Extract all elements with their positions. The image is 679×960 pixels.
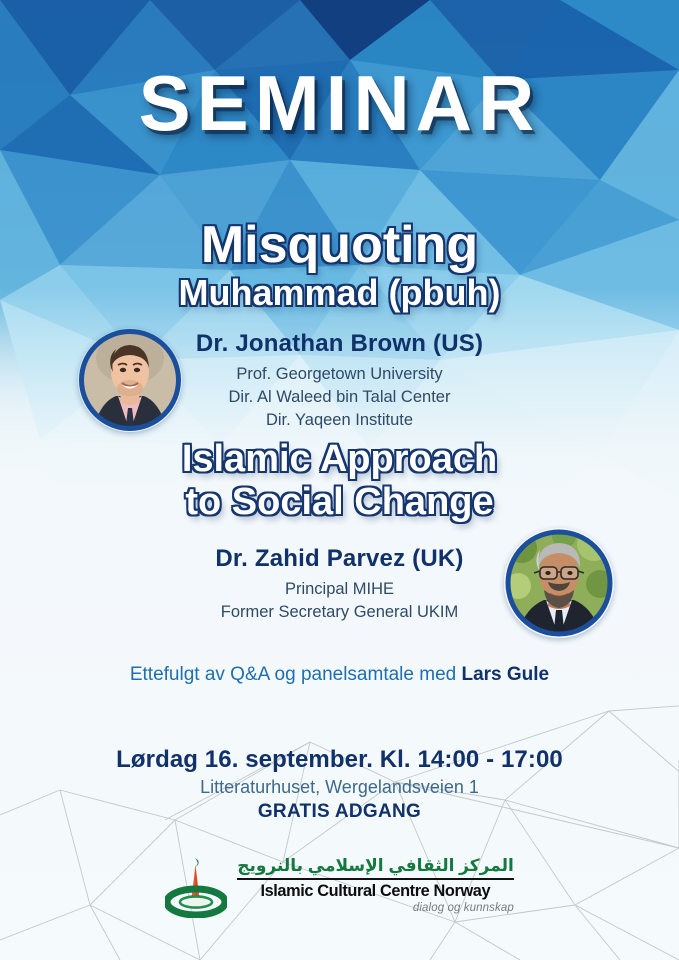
talk-one-speaker-name: Dr. Jonathan Brown (US) [0,330,679,358]
poster-heading-container: SEMINAR [0,64,679,142]
minaret-swoosh-icon [165,852,227,923]
talk-one-credentials: Prof. Georgetown University Dir. Al Wale… [0,363,679,431]
talk-one-speaker-block: Dr. Jonathan Brown (US) Prof. Georgetown… [0,330,679,431]
talk-one-title-line2: Muhammad (pbuh) [179,274,501,311]
panel-moderator-name: Lars Gule [461,664,549,685]
poster-heading: SEMINAR [139,64,541,142]
seminar-poster: SEMINAR Misquoting Muhammad (pbuh) [0,0,679,960]
logo-arabic-name: المركز الثقافي الإسلامي بالنرويج [237,856,514,876]
event-date-time: Lørdag 16. september. Kl. 14:00 - 17:00 [0,746,679,774]
panel-note: Ettefulgt av Q&A og panelsamtale med Lar… [0,664,679,686]
talk-two-speaker-name: Dr. Zahid Parvez (UK) [0,545,679,573]
credential-line: Dir. Al Waleed bin Talal Center [0,386,679,409]
logo-divider [237,878,514,880]
event-venue: Litteraturhuset, Wergelandsveien 1 [0,777,679,798]
organizer-logo: المركز الثقافي الإسلامي بالنرويج Islamic… [0,852,679,923]
panel-note-text: Ettefulgt av Q&A og panelsamtale med [130,664,462,685]
credential-line: Principal MIHE [0,578,679,601]
event-details: Lørdag 16. september. Kl. 14:00 - 17:00 … [0,746,679,823]
event-admission: GRATIS ADGANG [0,801,679,823]
talk-one-title: Misquoting Muhammad (pbuh) [0,218,679,312]
credential-line: Dir. Yaqeen Institute [0,409,679,432]
talk-one-title-line1: Misquoting [201,218,478,272]
talk-two-title: Islamic Approach to Social Change [0,440,679,522]
talk-two-title-line1: Islamic Approach [182,440,497,480]
logo-tagline: dialog og kunnskap [237,902,514,914]
logo-english-name: Islamic Cultural Centre Norway [243,881,509,901]
credential-line: Former Secretary General UKIM [0,601,679,624]
talk-two-speaker-block: Dr. Zahid Parvez (UK) Principal MIHE For… [0,545,679,624]
talk-two-credentials: Principal MIHE Former Secretary General … [0,578,679,624]
credential-line: Prof. Georgetown University [0,363,679,386]
talk-two-title-line2: to Social Change [185,483,493,523]
